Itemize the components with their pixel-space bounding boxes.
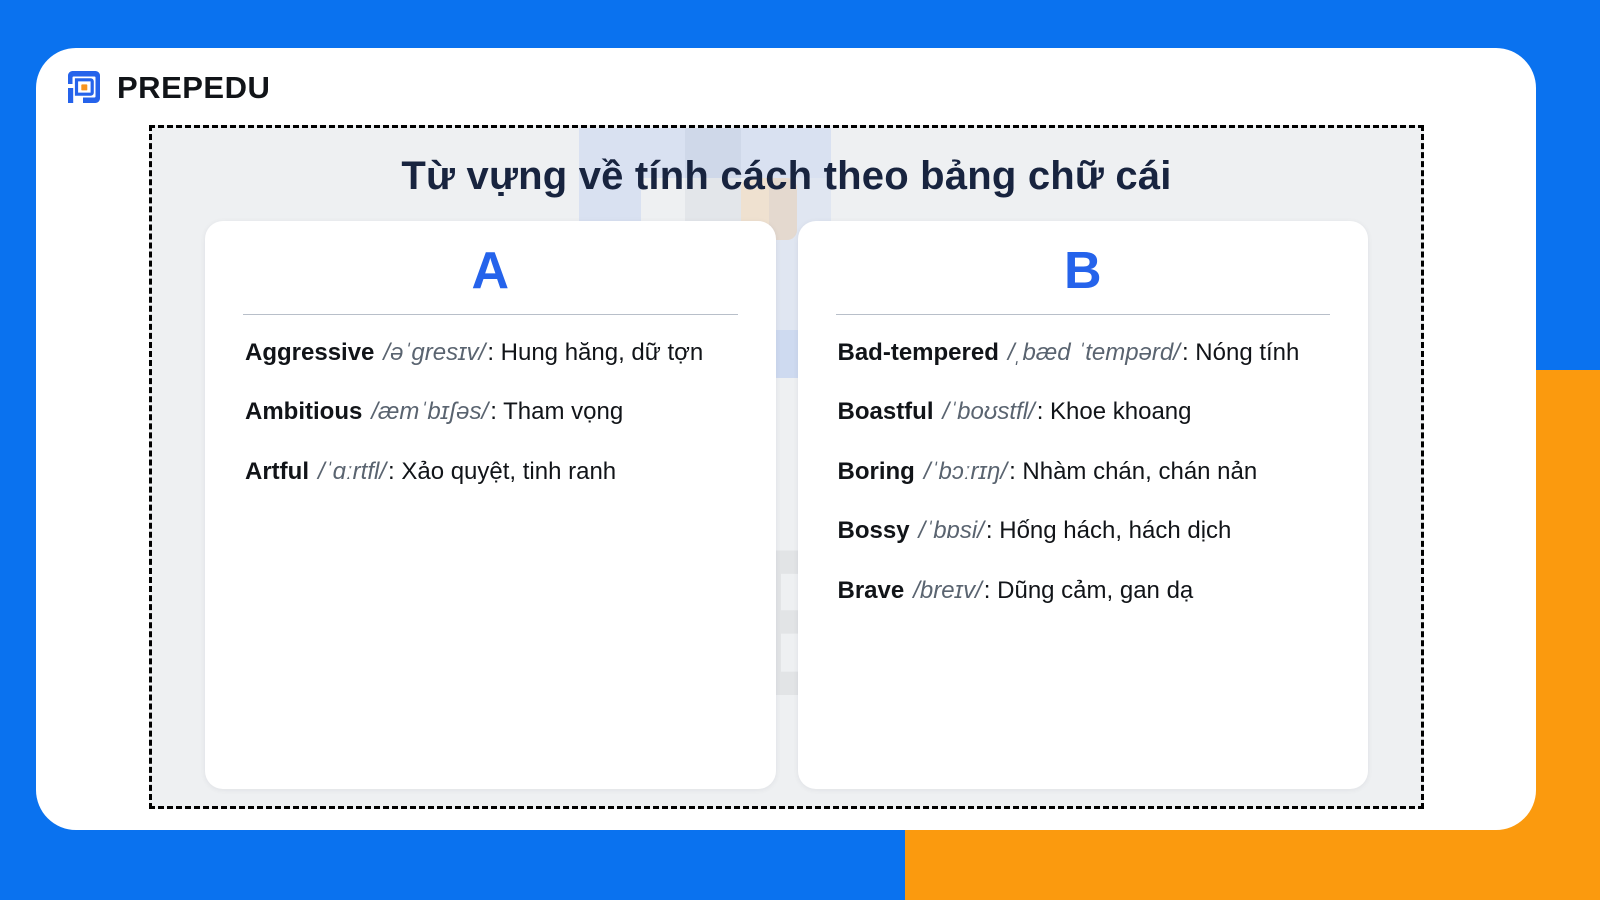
letter-heading-a: A [239,239,742,304]
entry-word: Aggressive [245,339,374,366]
entry-word: Boring [838,458,915,485]
letter-card-a: A Aggressive/əˈgresɪv/: Hung hăng, dữ tợ… [205,221,776,789]
entry-meaning: : Hống hách, hách dịch [986,517,1232,544]
entry-ipa: /æmˈbɪʃəs/ [362,398,490,425]
poster-canvas: PREPEDU PREP Từ vựng về tính cách theo b… [0,0,1600,900]
list-item: Brave/breɪv/: Dũng cảm, gan dạ [832,561,1335,620]
page-title: Từ vựng về tính cách theo bảng chữ cái [152,154,1421,199]
entry-word: Artful [245,458,309,485]
letter-heading-b: B [832,239,1335,304]
entry-word: Ambitious [245,398,362,425]
brand-name: PREPEDU [117,72,270,103]
entry-ipa: /ˌbæd ˈtempərd/ [999,339,1182,366]
entry-meaning: : Nhàm chán, chán nản [1009,458,1257,485]
brand-lockup: PREPEDU [64,67,270,107]
list-item: Aggressive/əˈgresɪv/: Hung hăng, dữ tợn [239,323,742,382]
letter-card-b: B Bad-tempered/ˌbæd ˈtempərd/: Nóng tính… [798,221,1369,789]
list-item: Bad-tempered/ˌbæd ˈtempərd/: Nóng tính [832,323,1335,382]
entry-ipa: /ˈbɒsi/ [910,517,986,544]
entry-meaning: : Khoe khoang [1037,398,1192,425]
entry-meaning: : Nóng tính [1182,339,1299,366]
lesson-board: PREP Từ vựng về tính cách theo bảng chữ … [149,125,1424,809]
entry-ipa: /breɪv/ [904,577,984,604]
list-item: Boring/ˈbɔːrɪŋ/: Nhàm chán, chán nản [832,442,1335,501]
entry-meaning: : Tham vọng [490,398,623,425]
entry-word: Bad-tempered [838,339,999,366]
divider [243,314,738,315]
entry-word: Bossy [838,517,910,544]
entry-list-b: Bad-tempered/ˌbæd ˈtempərd/: Nóng tính B… [832,323,1335,620]
divider [836,314,1331,315]
entry-list-a: Aggressive/əˈgresɪv/: Hung hăng, dữ tợn … [239,323,742,501]
list-item: Bossy/ˈbɒsi/: Hống hách, hách dịch [832,501,1335,560]
white-sheet: PREPEDU PREP Từ vựng về tính cách theo b… [36,48,1536,830]
entry-word: Boastful [838,398,934,425]
entry-word: Brave [838,577,905,604]
entry-ipa: /ˈboʊstfl/ [934,398,1037,425]
entry-meaning: : Hung hăng, dữ tợn [487,339,703,366]
list-item: Ambitious/æmˈbɪʃəs/: Tham vọng [239,382,742,441]
list-item: Artful/ˈɑːrtfl/: Xảo quyệt, tinh ranh [239,442,742,501]
entry-meaning: : Xảo quyệt, tinh ranh [388,458,616,485]
prep-logo-icon [64,67,104,107]
entry-ipa: /əˈgresɪv/ [374,339,487,366]
entry-ipa: /ˈɑːrtfl/ [309,458,388,485]
list-item: Boastful/ˈboʊstfl/: Khoe khoang [832,382,1335,441]
entry-meaning: : Dũng cảm, gan dạ [984,577,1193,604]
letter-columns: A Aggressive/əˈgresɪv/: Hung hăng, dữ tợ… [205,199,1368,789]
entry-ipa: /ˈbɔːrɪŋ/ [915,458,1009,485]
